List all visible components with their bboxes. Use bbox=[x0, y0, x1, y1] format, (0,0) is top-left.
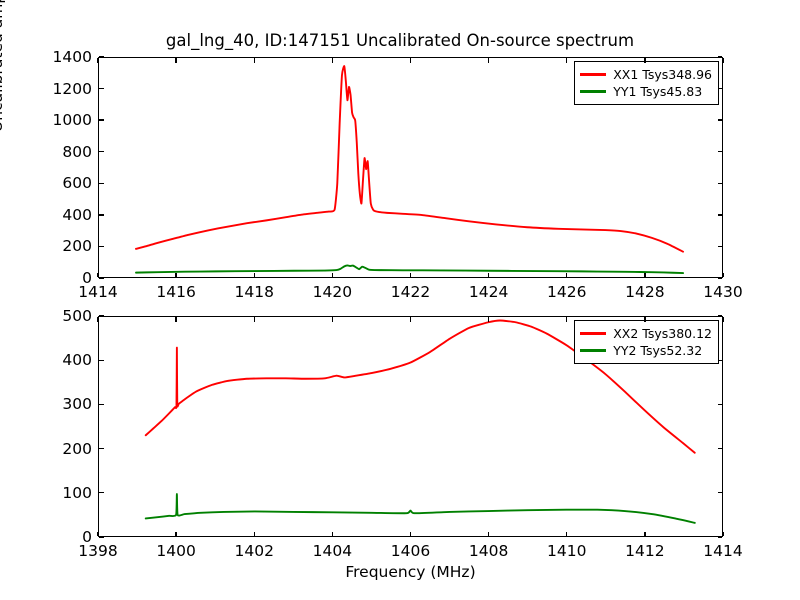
x-tick-mark-top bbox=[488, 317, 489, 322]
y-tick-mark-right bbox=[718, 119, 723, 120]
x-tick-mark bbox=[97, 273, 98, 278]
y-tick-mark bbox=[99, 277, 104, 278]
y-tick-mark-right bbox=[718, 404, 723, 405]
x-tick-label: 1426 bbox=[547, 283, 586, 301]
y-tick-mark-right bbox=[718, 88, 723, 89]
x-tick-label: 1414 bbox=[78, 283, 117, 301]
x-tick-label: 1402 bbox=[235, 542, 274, 560]
x-tick-mark-top bbox=[97, 317, 98, 322]
x-tick-mark-top bbox=[566, 58, 567, 63]
x-tick-label: 1410 bbox=[547, 542, 586, 560]
y-tick-mark bbox=[99, 214, 104, 215]
x-tick-mark-top bbox=[722, 317, 723, 322]
y-tick-mark-right bbox=[718, 151, 723, 152]
y-tick-mark-right bbox=[718, 492, 723, 493]
x-tick-mark bbox=[410, 273, 411, 278]
legend-label-yy1: YY1 Tsys45.83 bbox=[613, 84, 702, 99]
x-tick-mark bbox=[175, 532, 176, 537]
x-tick-mark bbox=[332, 532, 333, 537]
x-tick-mark bbox=[644, 273, 645, 278]
page-title: gal_lng_40, ID:147151 Uncalibrated On-so… bbox=[0, 31, 800, 50]
x-tick-mark bbox=[254, 532, 255, 537]
y-tick-mark bbox=[99, 448, 104, 449]
y-tick-mark bbox=[99, 88, 104, 89]
x-tick-label: 1414 bbox=[703, 542, 742, 560]
y-tick-mark bbox=[99, 404, 104, 405]
y-tick-label: 600 bbox=[30, 174, 92, 192]
x-tick-mark-top bbox=[254, 58, 255, 63]
top-legend: XX1 Tsys348.96 YY1 Tsys45.83 bbox=[574, 61, 719, 105]
legend-swatch-yy1 bbox=[580, 90, 606, 92]
top-y-axis-label: Uncalibrated amplitude bbox=[0, 0, 6, 161]
legend-swatch-xx2 bbox=[580, 332, 606, 334]
x-tick-mark bbox=[644, 532, 645, 537]
x-tick-mark bbox=[488, 532, 489, 537]
y-tick-mark-right bbox=[718, 360, 723, 361]
y-tick-label: 800 bbox=[30, 143, 92, 161]
x-tick-label: 1412 bbox=[625, 542, 664, 560]
x-tick-mark-top bbox=[175, 317, 176, 322]
y-tick-mark bbox=[99, 315, 104, 316]
x-tick-mark-top bbox=[97, 58, 98, 63]
y-tick-mark bbox=[99, 119, 104, 120]
y-tick-label: 200 bbox=[30, 237, 92, 255]
figure-canvas: gal_lng_40, ID:147151 Uncalibrated On-so… bbox=[0, 0, 800, 600]
y-tick-label: 200 bbox=[30, 440, 92, 458]
x-tick-label: 1422 bbox=[391, 283, 430, 301]
x-tick-mark-top bbox=[175, 58, 176, 63]
x-tick-label: 1418 bbox=[235, 283, 274, 301]
x-tick-mark bbox=[175, 273, 176, 278]
bottom-legend: XX2 Tsys380.12 YY2 Tsys52.32 bbox=[574, 320, 719, 364]
y-tick-label: 1400 bbox=[30, 48, 92, 66]
x-tick-mark-top bbox=[644, 317, 645, 322]
legend-label-yy2: YY2 Tsys52.32 bbox=[613, 343, 702, 358]
y-tick-mark bbox=[99, 536, 104, 537]
x-tick-label: 1420 bbox=[313, 283, 352, 301]
y-tick-label: 100 bbox=[30, 484, 92, 502]
x-tick-label: 1416 bbox=[156, 283, 195, 301]
x-tick-mark bbox=[97, 532, 98, 537]
y-tick-label: 400 bbox=[30, 206, 92, 224]
x-tick-mark bbox=[488, 273, 489, 278]
y-tick-label: 1000 bbox=[30, 111, 92, 129]
y-tick-mark bbox=[99, 151, 104, 152]
bottom-spectrum-panel: XX2 Tsys380.12 YY2 Tsys52.32 bbox=[98, 316, 723, 537]
x-tick-mark bbox=[410, 532, 411, 537]
x-tick-mark-top bbox=[332, 317, 333, 322]
x-tick-mark bbox=[332, 273, 333, 278]
y-tick-mark bbox=[99, 246, 104, 247]
x-tick-mark-top bbox=[254, 317, 255, 322]
legend-swatch-yy2 bbox=[580, 349, 606, 351]
x-tick-mark bbox=[722, 273, 723, 278]
x-tick-mark bbox=[722, 532, 723, 537]
x-tick-mark bbox=[566, 273, 567, 278]
x-tick-label: 1430 bbox=[703, 283, 742, 301]
y-tick-mark-right bbox=[718, 315, 723, 316]
y-tick-mark-right bbox=[718, 448, 723, 449]
legend-entry-xx2: XX2 Tsys380.12 bbox=[580, 325, 712, 342]
spectrum-trace-yy2 bbox=[146, 494, 695, 523]
y-tick-mark-right bbox=[718, 183, 723, 184]
x-tick-mark-top bbox=[566, 317, 567, 322]
top-spectrum-panel: XX1 Tsys348.96 YY1 Tsys45.83 bbox=[98, 57, 723, 278]
legend-swatch-xx1 bbox=[580, 73, 606, 75]
x-tick-label: 1424 bbox=[469, 283, 508, 301]
legend-entry-yy2: YY2 Tsys52.32 bbox=[580, 342, 712, 359]
x-tick-mark-top bbox=[410, 317, 411, 322]
y-tick-mark-right bbox=[718, 277, 723, 278]
x-tick-label: 1398 bbox=[78, 542, 117, 560]
x-tick-label: 1408 bbox=[469, 542, 508, 560]
x-tick-mark bbox=[254, 273, 255, 278]
x-tick-mark-top bbox=[332, 58, 333, 63]
x-tick-label: 1406 bbox=[391, 542, 430, 560]
x-tick-label: 1400 bbox=[156, 542, 195, 560]
legend-label-xx2: XX2 Tsys380.12 bbox=[613, 326, 712, 341]
x-tick-mark-top bbox=[722, 58, 723, 63]
x-tick-mark-top bbox=[410, 58, 411, 63]
x-tick-mark-top bbox=[488, 58, 489, 63]
bottom-x-axis-label: Frequency (MHz) bbox=[98, 563, 723, 581]
legend-entry-yy1: YY1 Tsys45.83 bbox=[580, 83, 712, 100]
y-tick-label: 500 bbox=[30, 307, 92, 325]
x-tick-label: 1428 bbox=[625, 283, 664, 301]
y-tick-mark bbox=[99, 56, 104, 57]
legend-entry-xx1: XX1 Tsys348.96 bbox=[580, 66, 712, 83]
y-tick-mark bbox=[99, 492, 104, 493]
y-tick-mark-right bbox=[718, 214, 723, 215]
y-tick-label: 400 bbox=[30, 351, 92, 369]
legend-label-xx1: XX1 Tsys348.96 bbox=[613, 67, 712, 82]
y-tick-mark-right bbox=[718, 246, 723, 247]
y-tick-mark bbox=[99, 360, 104, 361]
x-tick-label: 1404 bbox=[313, 542, 352, 560]
x-tick-mark-top bbox=[644, 58, 645, 63]
y-tick-label: 300 bbox=[30, 395, 92, 413]
y-tick-label: 1200 bbox=[30, 80, 92, 98]
y-tick-mark-right bbox=[718, 536, 723, 537]
y-tick-mark-right bbox=[718, 56, 723, 57]
y-tick-mark bbox=[99, 183, 104, 184]
x-tick-mark bbox=[566, 532, 567, 537]
